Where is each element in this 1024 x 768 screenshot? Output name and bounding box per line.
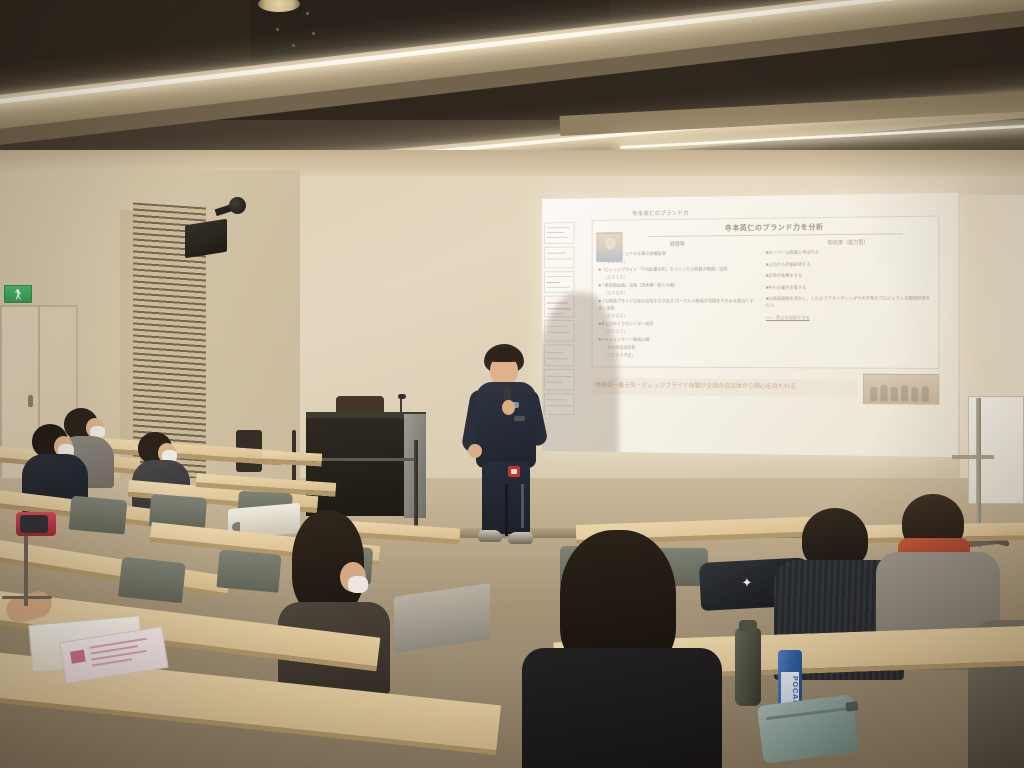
slide-column-recognition: 知名度（能力型） ■スーパー公務員と呼ばれる ■上司から評価説明する ■文章の執… (766, 238, 932, 361)
presenter-shoe-right (508, 532, 533, 544)
thermos-cap[interactable] (739, 620, 757, 632)
slide-title: 寺本英仁のブランド力を分析 (649, 221, 903, 237)
projection-screen: 寺本英仁のブランド力 寺本英仁のブランド力を分析 経歴等 ■プロフェッショナル仕… (542, 193, 958, 457)
slide-bullet: ■上司から評価説明する (766, 260, 932, 268)
door-handle-icon[interactable] (28, 395, 33, 407)
chair[interactable] (118, 557, 186, 603)
pouch-tab-icon (845, 701, 858, 711)
lectern-microphone-head-icon (398, 394, 406, 399)
slide-bullet-sub: その他出演多数 (598, 344, 758, 351)
whiteboard-stand-arm (952, 455, 994, 459)
slide-bullet: ■『東京脱出論』出版（茂木健一郎と共著） (598, 282, 758, 289)
slide-portrait-photo (596, 232, 622, 262)
jacket-logo-icon: ✦ (740, 576, 754, 590)
slide-banner-text: 島根県一番元気・ビレッジプライド体験が全国の自治体から関心を持たれる (592, 378, 858, 396)
slide-group-photo (863, 373, 939, 404)
slide-bullet-sub: （２０２３） (598, 328, 758, 335)
slide-thumbnail (544, 222, 574, 244)
slide-bullet-sub: （２０２２） (598, 312, 758, 319)
slide-bullet: ■文章の執筆をする (766, 272, 932, 280)
slide-bullet: ■『ビレッジプライド「０円起業の町」をつくった公務員の物語』出版 (598, 266, 758, 273)
slide-thumbnail (544, 247, 574, 269)
slide-footer: 島根県一番元気・ビレッジプライド体験が全国の自治体から関心を持たれる (592, 372, 940, 405)
slide-bullet: ■『公務員プライド日本の田舎を引き出す ローカル公務員が全国をそのまま面白くする… (598, 298, 758, 311)
lecture-hall-scene: 寺本英仁のブランド力 寺本英仁のブランド力を分析 経歴等 ■プロフェッショナル仕… (0, 0, 1024, 768)
thermos[interactable] (735, 628, 761, 706)
lectern-trim (306, 458, 414, 461)
slide-bullet-summary: ── 売上も対応できる (766, 315, 932, 322)
chair[interactable] (69, 496, 128, 535)
slide-bullet: ■ドキュメンタリー映画公開 (598, 336, 758, 343)
slide-body: 寺本英仁のブランド力を分析 経歴等 ■プロフェッショナル仕事の流儀出演 （２０１… (592, 216, 940, 369)
lectern (306, 418, 414, 516)
presenter-left-hand (468, 444, 482, 458)
stand-pole (414, 440, 418, 530)
wristwatch-icon (514, 416, 525, 421)
slide-bullet: ■スーパー公務員と呼ばれる (766, 248, 932, 256)
wall-speaker-icon (185, 219, 227, 259)
presenter-shoe-left (478, 530, 502, 542)
slide-bullet-sub: （２０１８） (598, 274, 758, 281)
face-mask (348, 576, 368, 593)
lectern-microphone-icon (400, 398, 402, 420)
presenter-right-hand (502, 400, 515, 415)
chair[interactable] (216, 549, 281, 592)
current-slide: 寺本英仁のブランド力 寺本英仁のブランド力を分析 経歴等 ■プロフェッショナル仕… (586, 201, 946, 426)
slide-bullet: ■卓上日めくりカレンダー発売 (598, 320, 758, 327)
slide-bullet-sub: （２０２０） (598, 290, 758, 297)
tripod-legs (2, 596, 52, 599)
slide-bullet: ■中小企業を支援する (766, 284, 932, 291)
presenter-hair-fringe (486, 348, 522, 362)
slide-column-heading: 知名度（能力型） (766, 238, 932, 247)
smartphone-screen[interactable] (20, 515, 48, 533)
presenter (462, 344, 554, 544)
slide-thumbnail (544, 271, 574, 293)
exit-sign-icon (4, 285, 32, 303)
slide-bullet-sub: （２０２４予定） (598, 352, 758, 359)
trouser-seam (505, 484, 508, 536)
trouser-logo-patch-icon (508, 466, 520, 477)
attendee-torso (522, 648, 722, 768)
fabric-pouch[interactable] (757, 694, 859, 763)
trouser-stripe (521, 484, 524, 528)
speaker-bracket-icon (229, 197, 246, 214)
slide-bullet: ■公務員経験を活かし、これまでブランディングや大学等のプロジェクトの開発研修を行… (766, 295, 932, 309)
